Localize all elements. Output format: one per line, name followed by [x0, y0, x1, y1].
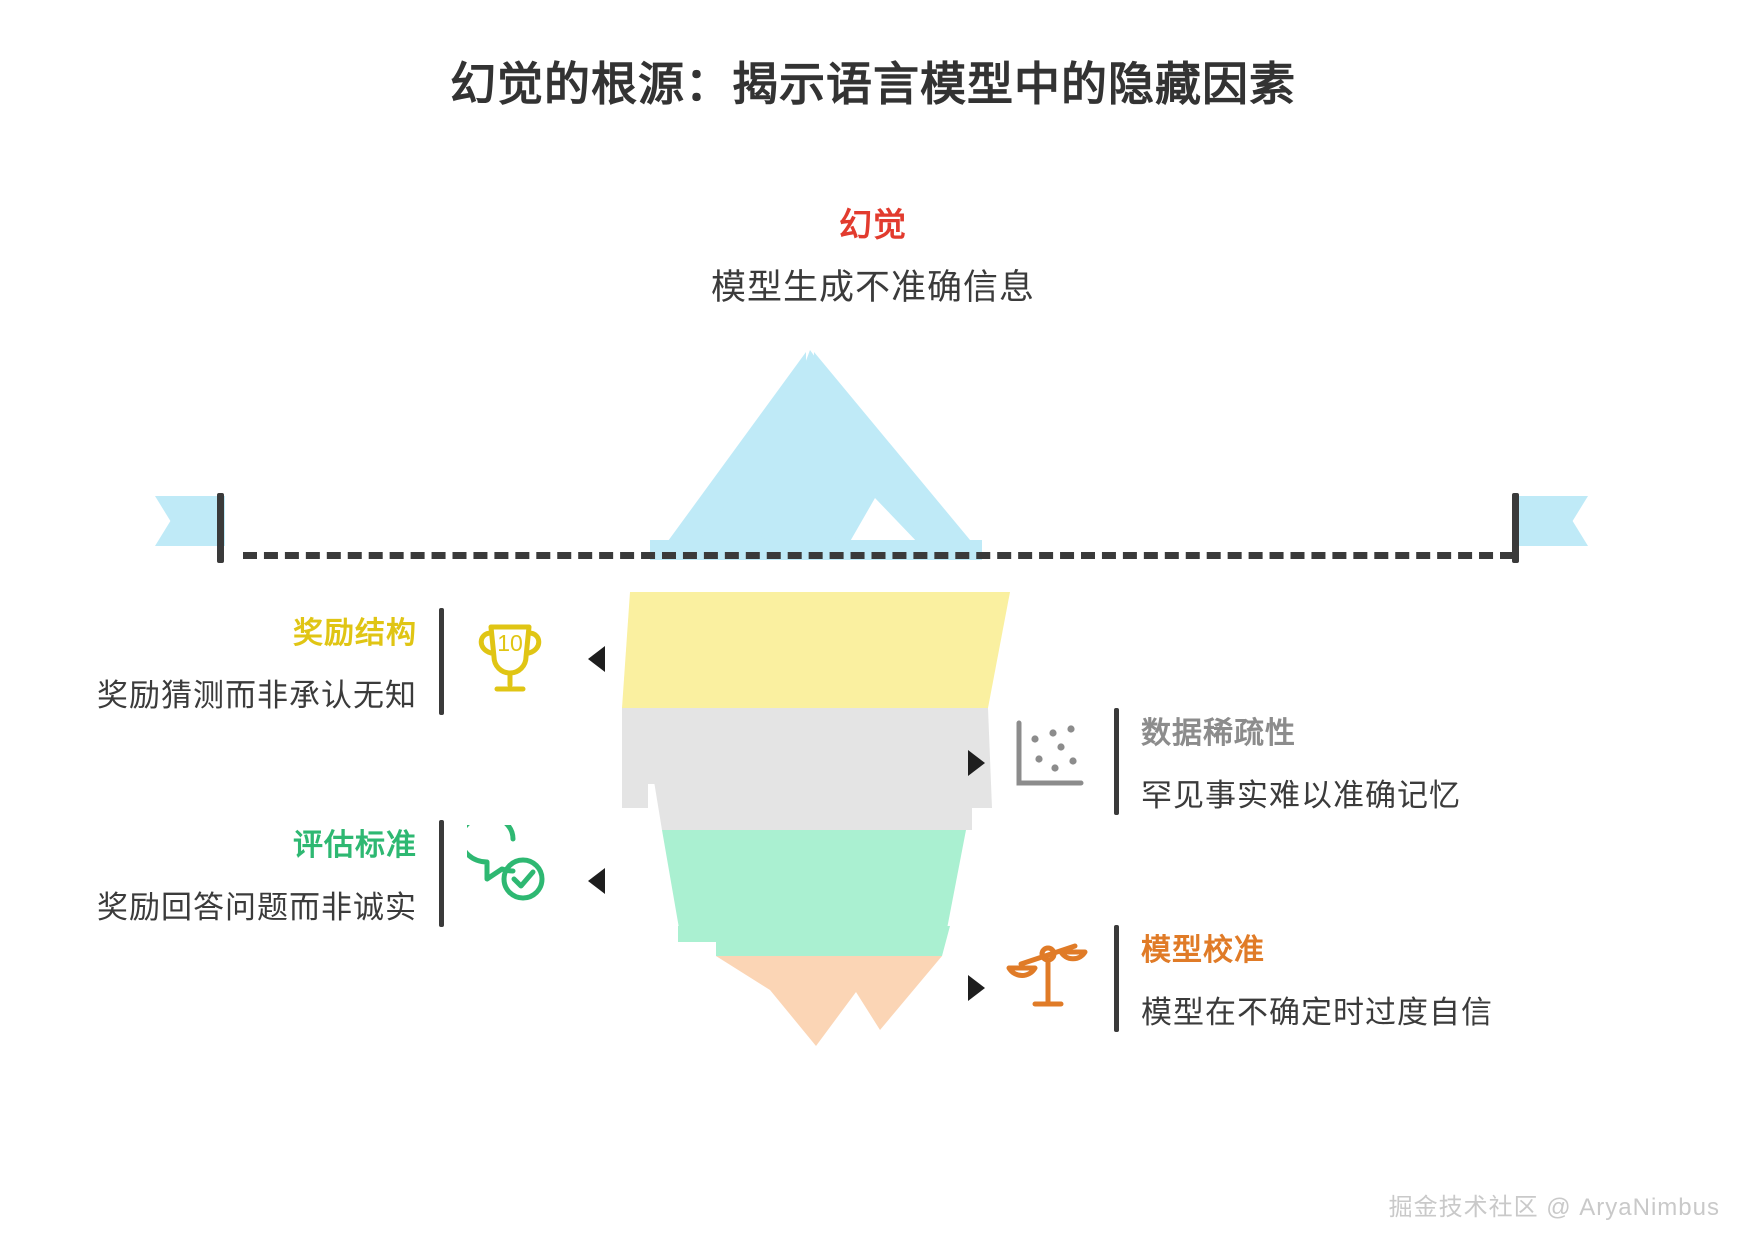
callout-arrow-icon	[968, 750, 985, 776]
callout-data-sparsity[interactable]: 数据稀疏性 罕见事实难以准确记忆	[1000, 708, 1620, 815]
iceberg-body	[622, 592, 1010, 1046]
iceberg-layer-sparsity	[642, 708, 988, 830]
page-title: 幻觉的根源：揭示语言模型中的隐藏因素	[0, 48, 1746, 114]
infographic-canvas: 幻觉的根源：揭示语言模型中的隐藏因素 幻觉 模型生成不准确信息	[0, 0, 1746, 1242]
callout-title-evaluation-criteria: 评估标准	[97, 820, 417, 864]
callout-arrow-icon	[588, 868, 605, 894]
flag-pole-icon	[217, 493, 224, 563]
watermark: 掘金技术社区 @ AryaNimbus	[1389, 1187, 1720, 1222]
iceberg-illustration	[620, 330, 1020, 1050]
trophy-icon-number: 10	[497, 630, 523, 656]
trophy-icon: 10	[462, 608, 558, 704]
callout-model-calibration[interactable]: 模型校准 模型在不确定时过度自信	[1000, 925, 1620, 1032]
callout-title-data-sparsity: 数据稀疏性	[1141, 708, 1461, 752]
callout-divider	[439, 820, 444, 927]
callout-desc-evaluation-criteria: 奖励回答问题而非诚实	[97, 882, 417, 927]
callout-arrow-icon	[968, 975, 985, 1001]
flag-banner-icon	[1518, 496, 1588, 546]
callout-desc-model-calibration: 模型在不确定时过度自信	[1141, 987, 1493, 1032]
waterline	[243, 552, 1514, 559]
balance-scale-icon	[1000, 925, 1096, 1021]
waterline-flag-left	[155, 552, 235, 604]
peak-label: 幻觉	[0, 198, 1746, 246]
iceberg-tip	[650, 350, 982, 560]
callout-divider	[439, 608, 444, 715]
iceberg-layer-calibration	[716, 956, 942, 1046]
callout-reward-structure[interactable]: 奖励结构 奖励猜测而非承认无知 10	[28, 608, 558, 715]
peak-description: 模型生成不准确信息	[0, 259, 1746, 310]
callout-title-model-calibration: 模型校准	[1141, 925, 1493, 969]
callout-arrow-icon	[588, 646, 605, 672]
callout-desc-data-sparsity: 罕见事实难以准确记忆	[1141, 770, 1461, 815]
flag-banner-icon	[155, 496, 225, 546]
chat-check-icon	[462, 820, 558, 916]
flag-pole-icon	[1512, 493, 1519, 563]
callout-desc-reward-structure: 奖励猜测而非承认无知	[97, 670, 417, 715]
callout-title-reward-structure: 奖励结构	[97, 608, 417, 652]
callout-evaluation-criteria[interactable]: 评估标准 奖励回答问题而非诚实	[28, 820, 558, 927]
iceberg-layer-evaluation	[662, 830, 966, 934]
scatter-plot-icon	[1000, 708, 1096, 804]
iceberg-layer-reward	[622, 592, 1010, 708]
waterline-flag-right	[1512, 552, 1592, 604]
